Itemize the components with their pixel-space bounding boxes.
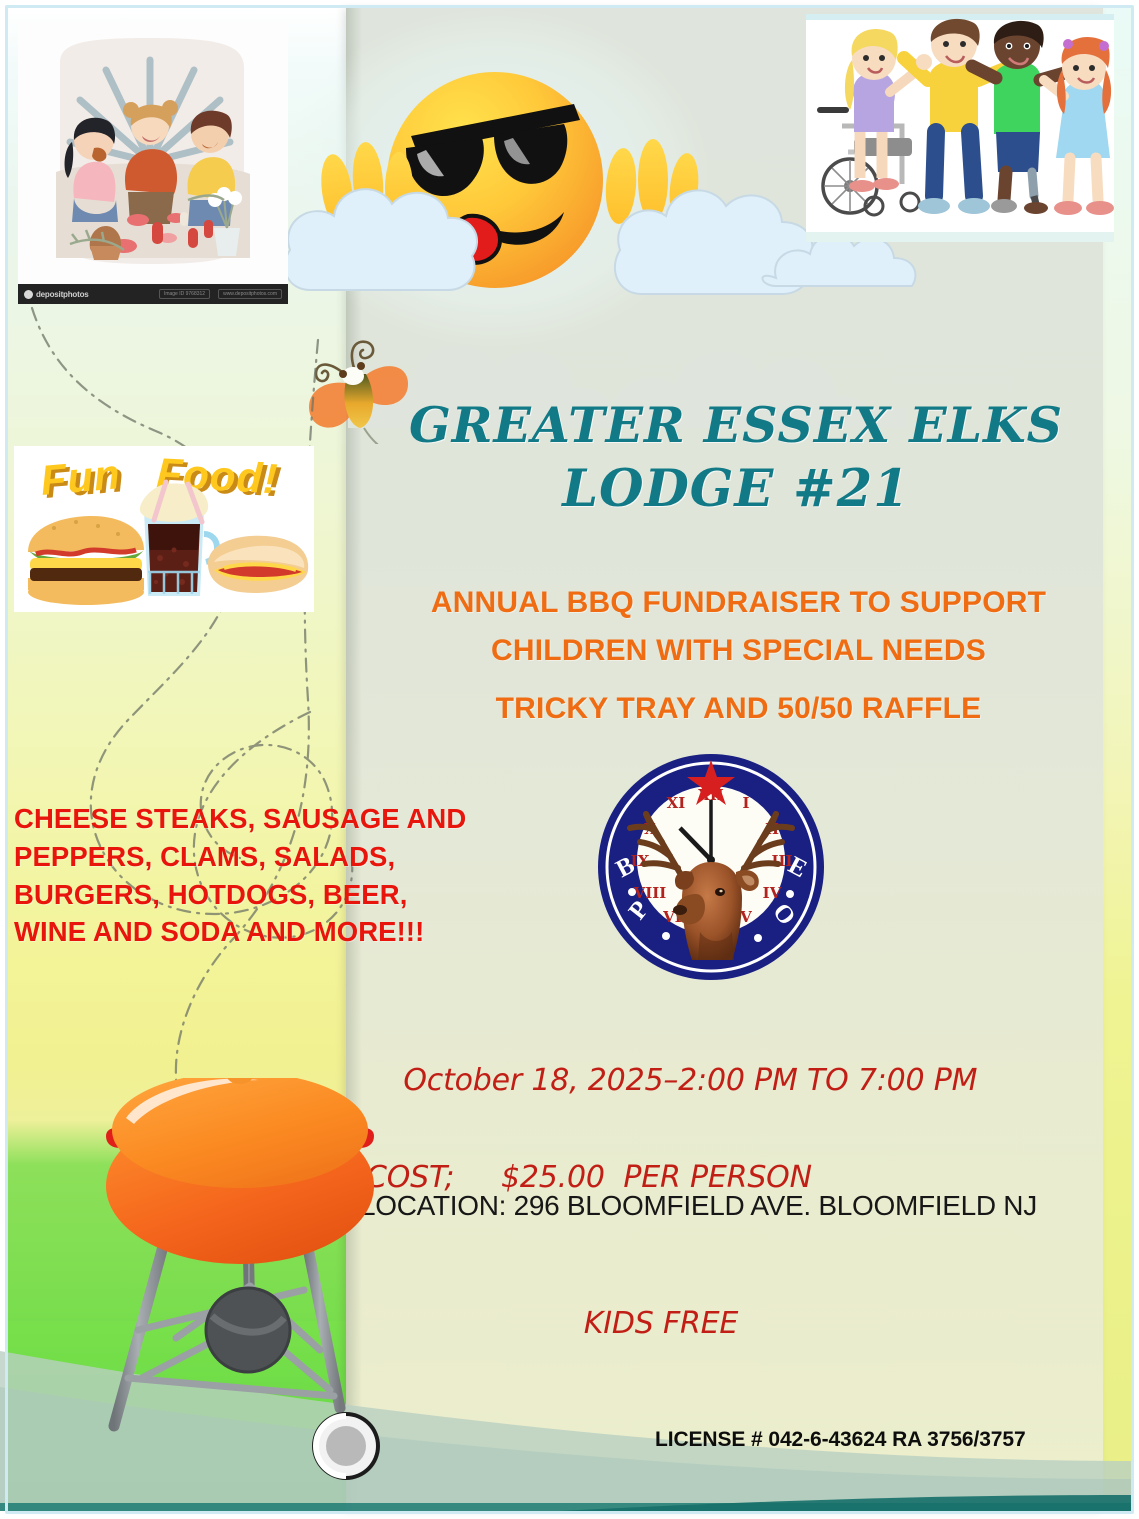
- subhead-line-3: TRICKY TRAY AND 50/50 RAFFLE: [366, 692, 1111, 726]
- svg-text:Fun: Fun: [39, 450, 123, 504]
- svg-text:XI: XI: [667, 794, 686, 812]
- watermark-brand: depositphotos: [36, 290, 89, 299]
- svg-text:IV: IV: [763, 884, 782, 902]
- menu-line: PEPPERS, CLAMS, SALADS,: [14, 838, 534, 876]
- subhead-line-1: ANNUAL BBQ FUNDRAISER TO SUPPORT: [366, 586, 1111, 620]
- page-title: GREATER ESSEX ELKS LODGE #21: [366, 394, 1106, 522]
- svg-text:VIII: VIII: [633, 884, 667, 902]
- depositphotos-watermark: depositphotos Image ID 9768312 www.depos…: [18, 284, 288, 304]
- event-details: October 18, 2025–2:00 PM TO 7:00 PM COST…: [366, 1008, 1066, 1445]
- subhead-line-2: CHILDREN WITH SPECIAL NEEDS: [366, 634, 1111, 668]
- menu-line: WINE AND SODA AND MORE!!!: [14, 913, 534, 951]
- menu-list: CHEESE STEAKS, SAUSAGE AND PEPPERS, CLAM…: [14, 800, 534, 951]
- watermark-image-id: Image ID 9768312: [159, 289, 210, 299]
- event-location: LOCATION: 296 BLOOMFIELD AVE. BLOOMFIELD…: [360, 1190, 1105, 1222]
- bbq-kettle-grill-illustration: [72, 1078, 412, 1498]
- menu-line: CHEESE STEAKS, SAUSAGE AND: [14, 800, 534, 838]
- kids-picnic-illustration: depositphotos Image ID 9768312 www.depos…: [18, 22, 288, 304]
- watermark-url: www.depositphotos.com: [218, 289, 282, 299]
- bpoe-elks-emblem: XII I II III IV V VI VII VIII IX X XI: [596, 752, 826, 982]
- license-number: LICENSE # 042-6-43624 RA 3756/3757: [655, 1428, 1026, 1452]
- menu-line: BURGERS, HOTDOGS, BEER,: [14, 876, 534, 914]
- title-line-2: LODGE #21: [366, 457, 1106, 522]
- flyer-canvas: depositphotos Image ID 9768312 www.depos…: [0, 0, 1139, 1519]
- children-with-special-needs-illustration: [806, 14, 1114, 242]
- fun-food-clipart: Fun Fun Food! Food!: [14, 446, 314, 612]
- event-date-time: October 18, 2025–2:00 PM TO 7:00 PM: [403, 1063, 977, 1098]
- title-line-1: GREATER ESSEX ELKS: [366, 394, 1106, 457]
- kids-free-note: KIDS FREE: [366, 1300, 1066, 1349]
- svg-text:I: I: [742, 794, 749, 812]
